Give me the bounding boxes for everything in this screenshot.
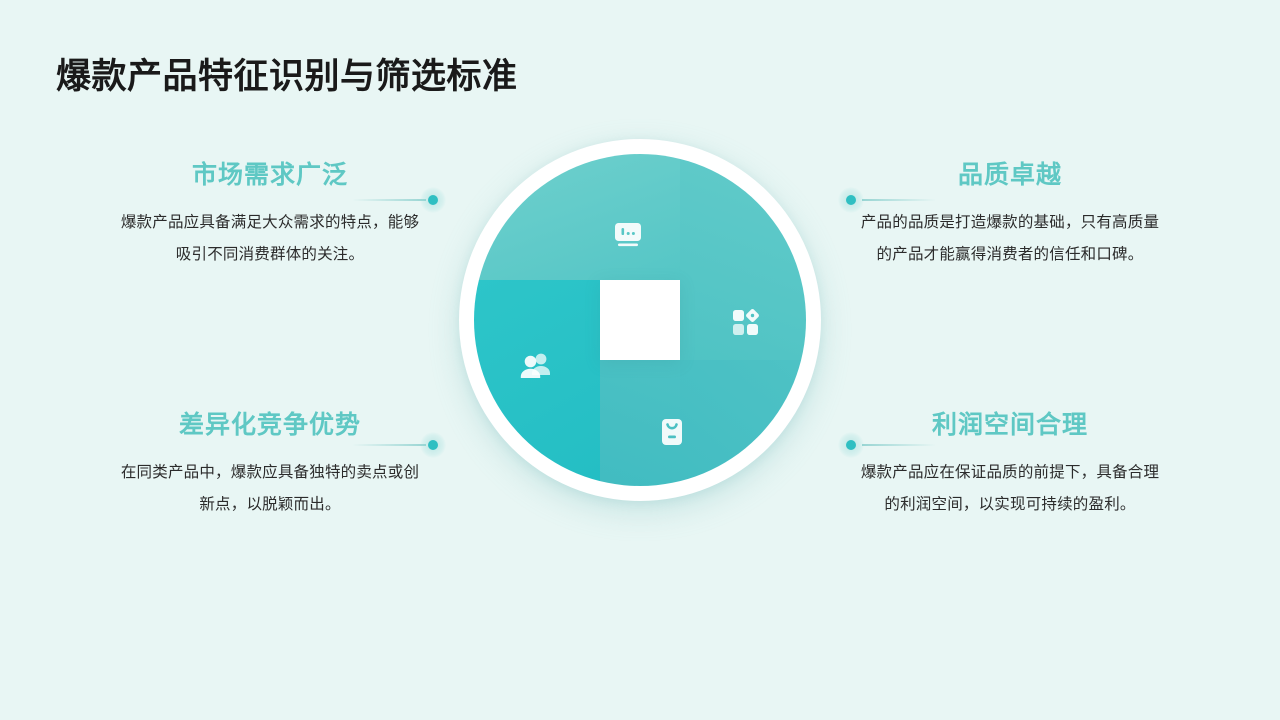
connector-dot	[428, 440, 438, 450]
feature-body-market-demand: 爆款产品应具备满足大众需求的特点，能够吸引不同消费群体的关注。	[120, 207, 420, 271]
pinwheel-segment-right[interactable]	[680, 360, 806, 486]
connector-dot	[846, 440, 856, 450]
connector-top-right	[838, 187, 958, 213]
pinwheel-center-square	[600, 280, 680, 360]
slide-canvas: 爆款产品特征识别与筛选标准 市场需求广泛 爆款产品应具备满足大众需求的特点，能够…	[0, 0, 1280, 720]
feature-body-profit: 爆款产品应在保证品质的前提下，具备合理的利润空间，以实现可持续的盈利。	[860, 457, 1160, 521]
shopping-bag-icon	[652, 412, 692, 452]
feature-body-quality: 产品的品质是打造爆款的基础，只有高质量的产品才能赢得消费者的信任和口碑。	[860, 207, 1160, 271]
connector-dot	[846, 195, 856, 205]
feature-block-top-right: 品质卓越 产品的品质是打造爆款的基础，只有高质量的产品才能赢得消费者的信任和口碑…	[860, 160, 1160, 271]
feature-block-bottom-right: 利润空间合理 爆款产品应在保证品质的前提下，具备合理的利润空间，以实现可持续的盈…	[860, 410, 1160, 521]
page-title: 爆款产品特征识别与筛选标准	[56, 56, 518, 98]
connector-line	[352, 444, 426, 446]
feature-block-bottom-left: 差异化竞争优势 在同类产品中，爆款应具备独特的卖点或创新点，以脱颖而出。	[120, 410, 420, 521]
connector-top-left	[352, 187, 472, 213]
connector-line	[352, 199, 426, 201]
pinwheel-diagram	[459, 139, 821, 501]
monitor-icon	[608, 214, 648, 254]
pinwheel-segments	[474, 154, 806, 486]
connector-line	[862, 444, 936, 446]
grid-diamond-icon	[726, 302, 766, 342]
users-icon	[516, 346, 556, 386]
connector-bottom-left	[352, 432, 472, 458]
connector-bottom-right	[838, 432, 958, 458]
feature-block-top-left: 市场需求广泛 爆款产品应具备满足大众需求的特点，能够吸引不同消费群体的关注。	[120, 160, 420, 271]
feature-body-differentiation: 在同类产品中，爆款应具备独特的卖点或创新点，以脱颖而出。	[120, 457, 420, 521]
connector-line	[862, 199, 936, 201]
pinwheel-segment-top[interactable]	[474, 154, 680, 280]
connector-dot	[428, 195, 438, 205]
